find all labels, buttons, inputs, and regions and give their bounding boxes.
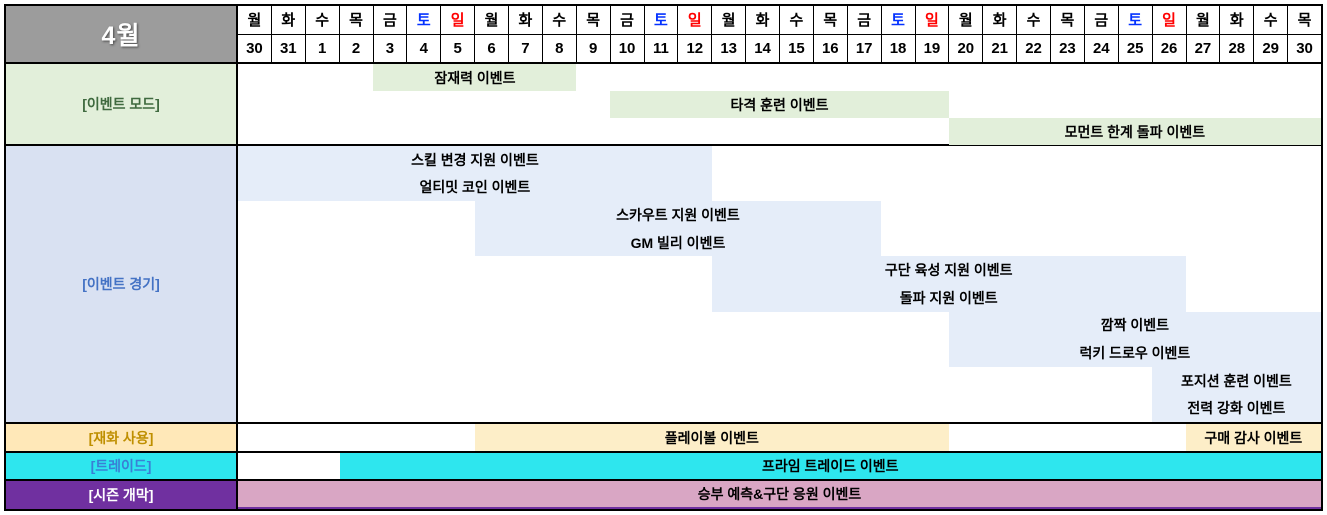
event-bar-label: 깜짝 이벤트: [1101, 315, 1169, 335]
day-of-week-label: 수: [1254, 6, 1287, 35]
day-column-20[interactable]: 월20: [949, 6, 983, 62]
day-number-label: 30: [238, 35, 271, 63]
day-number-label: 13: [712, 35, 745, 63]
day-of-week-label: 화: [746, 6, 779, 35]
day-of-week-label: 토: [1119, 6, 1152, 35]
event-bar-mode-1[interactable]: 타격 훈련 이벤트: [610, 91, 948, 118]
category-event-match[interactable]: [이벤트 경기]: [6, 146, 236, 424]
day-of-week-label: 수: [780, 6, 813, 35]
day-column-24[interactable]: 금24: [1085, 6, 1119, 62]
day-of-week-label: 금: [611, 6, 644, 35]
day-column-1[interactable]: 수1: [306, 6, 340, 62]
event-bar-mode-0[interactable]: 잠재력 이벤트: [373, 64, 576, 91]
day-number-label: 27: [1187, 35, 1220, 63]
day-of-week-label: 토: [407, 6, 440, 35]
day-of-week-label: 목: [1051, 6, 1084, 35]
event-bar-label: 구매 감사 이벤트: [1204, 428, 1302, 448]
day-column-13[interactable]: 월13: [712, 6, 746, 62]
event-bar-label: 전력 강화 이벤트: [1187, 398, 1285, 418]
day-column-10[interactable]: 금10: [611, 6, 645, 62]
day-of-week-label: 목: [814, 6, 847, 35]
day-number-label: 1: [306, 35, 339, 63]
event-bar-label: 얼티밋 코인 이벤트: [419, 177, 530, 197]
day-number-label: 5: [441, 35, 474, 63]
event-bar-currency-0[interactable]: 플레이볼 이벤트: [475, 424, 949, 451]
day-column-23[interactable]: 목23: [1051, 6, 1085, 62]
event-bar-match-5[interactable]: 돌파 지원 이벤트: [712, 284, 1186, 312]
day-number-label: 9: [577, 35, 610, 63]
day-column-17[interactable]: 금17: [848, 6, 882, 62]
day-of-week-label: 목: [340, 6, 373, 35]
event-bar-label: 프라임 트레이드 이벤트: [762, 456, 899, 476]
day-number-label: 18: [882, 35, 915, 63]
day-number-label: 2: [340, 35, 373, 63]
event-bar-match-6[interactable]: 깜짝 이벤트: [949, 312, 1321, 340]
day-number-label: 12: [678, 35, 711, 63]
day-of-week-label: 화: [272, 6, 305, 35]
day-of-week-label: 일: [1153, 6, 1186, 35]
day-of-week-label: 화: [509, 6, 542, 35]
event-bar-label: 승부 예측&구단 응원 이벤트: [698, 484, 861, 504]
day-of-week-label: 목: [577, 6, 610, 35]
day-column-3[interactable]: 금3: [374, 6, 408, 62]
day-number-label: 16: [814, 35, 847, 63]
day-number-label: 11: [645, 35, 678, 63]
day-of-week-label: 일: [441, 6, 474, 35]
event-calendar: 4월 월30화31수1목2금3토4일5월6화7수8목9금10토11일12월13화…: [0, 0, 1327, 515]
day-number-label: 29: [1254, 35, 1287, 63]
event-bar-match-3[interactable]: GM 빌리 이벤트: [475, 229, 881, 257]
day-column-31[interactable]: 화31: [272, 6, 306, 62]
day-number-label: 7: [509, 35, 542, 63]
day-of-week-label: 월: [949, 6, 982, 35]
event-bar-label: 돌파 지원 이벤트: [900, 288, 998, 308]
day-number-label: 21: [983, 35, 1016, 63]
category-event-mode[interactable]: [이벤트 모드]: [6, 64, 236, 146]
day-column-15[interactable]: 수15: [780, 6, 814, 62]
day-column-8[interactable]: 수8: [543, 6, 577, 62]
event-bar-match-9[interactable]: 전력 강화 이벤트: [1152, 394, 1321, 422]
day-column-29[interactable]: 수29: [1254, 6, 1288, 62]
day-column-19[interactable]: 일19: [916, 6, 950, 62]
day-of-week-label: 월: [475, 6, 508, 35]
day-column-21[interactable]: 화21: [983, 6, 1017, 62]
event-bar-label: 모먼트 한계 돌파 이벤트: [1065, 122, 1205, 142]
day-of-week-label: 금: [1085, 6, 1118, 35]
day-of-week-label: 화: [983, 6, 1016, 35]
day-number-label: 23: [1051, 35, 1084, 63]
day-number-label: 31: [272, 35, 305, 63]
day-of-week-label: 토: [645, 6, 678, 35]
calendar-frame: 4월 월30화31수1목2금3토4일5월6화7수8목9금10토11일12월13화…: [4, 4, 1323, 511]
day-of-week-label: 금: [374, 6, 407, 35]
day-of-week-label: 수: [543, 6, 576, 35]
category-currency-use[interactable]: [재화 사용]: [6, 424, 236, 453]
event-bar-match-1[interactable]: 얼티밋 코인 이벤트: [238, 174, 712, 202]
day-column-25[interactable]: 토25: [1119, 6, 1153, 62]
day-of-week-label: 월: [712, 6, 745, 35]
event-bar-match-8[interactable]: 포지션 훈련 이벤트: [1152, 367, 1321, 395]
day-number-label: 25: [1119, 35, 1152, 63]
event-bar-season-0[interactable]: 승부 예측&구단 응원 이벤트: [238, 481, 1321, 507]
event-bar-trade-0[interactable]: 프라임 트레이드 이벤트: [340, 453, 1321, 479]
day-column-16[interactable]: 목16: [814, 6, 848, 62]
day-number-label: 14: [746, 35, 779, 63]
day-column-4[interactable]: 토4: [407, 6, 441, 62]
category-season-open[interactable]: [시즌 개막]: [6, 481, 236, 509]
day-of-week-label: 수: [1017, 6, 1050, 35]
day-column-18[interactable]: 토18: [882, 6, 916, 62]
day-number-label: 26: [1153, 35, 1186, 63]
day-column-14[interactable]: 화14: [746, 6, 780, 62]
day-number-label: 10: [611, 35, 644, 63]
day-number-label: 17: [848, 35, 881, 63]
day-number-label: 15: [780, 35, 813, 63]
day-of-week-label: 목: [1288, 6, 1321, 35]
event-bar-label: 구단 육성 지원 이벤트: [885, 260, 1013, 280]
day-header-grid: 월30화31수1목2금3토4일5월6화7수8목9금10토11일12월13화14수…: [238, 6, 1321, 64]
day-column-6[interactable]: 월6: [475, 6, 509, 62]
day-column-7[interactable]: 화7: [509, 6, 543, 62]
day-of-week-label: 일: [916, 6, 949, 35]
event-bar-label: 럭키 드로우 이벤트: [1079, 343, 1190, 363]
day-number-label: 3: [374, 35, 407, 63]
day-number-label: 20: [949, 35, 982, 63]
day-column-30[interactable]: 목30: [1288, 6, 1321, 62]
day-number-label: 6: [475, 35, 508, 63]
day-of-week-label: 일: [678, 6, 711, 35]
event-bar-match-2[interactable]: 스카우트 지원 이벤트: [475, 201, 881, 229]
event-bar-currency-1[interactable]: 구매 감사 이벤트: [1186, 424, 1321, 451]
day-number-label: 19: [916, 35, 949, 63]
category-trade[interactable]: [트레이드]: [6, 453, 236, 481]
day-of-week-label: 금: [848, 6, 881, 35]
event-bar-label: 스킬 변경 지원 이벤트: [411, 150, 539, 170]
event-bar-label: 타격 훈련 이벤트: [731, 95, 829, 115]
day-column-26[interactable]: 일26: [1153, 6, 1187, 62]
day-column-27[interactable]: 월27: [1187, 6, 1221, 62]
day-column-5[interactable]: 일5: [441, 6, 475, 62]
day-number-label: 8: [543, 35, 576, 63]
day-number-label: 28: [1220, 35, 1253, 63]
category-column: [이벤트 모드] [이벤트 경기] [재화 사용] [트레이드] [시즌 개막]: [6, 64, 238, 511]
day-column-12[interactable]: 일12: [678, 6, 712, 62]
day-column-28[interactable]: 화28: [1220, 6, 1254, 62]
day-column-9[interactable]: 목9: [577, 6, 611, 62]
event-bar-label: 스카우트 지원 이벤트: [616, 205, 740, 225]
event-bar-label: 플레이볼 이벤트: [665, 428, 759, 448]
day-number-label: 24: [1085, 35, 1118, 63]
timeline-body: 잠재력 이벤트타격 훈련 이벤트모먼트 한계 돌파 이벤트스킬 변경 지원 이벤…: [238, 64, 1321, 511]
day-of-week-label: 월: [238, 6, 271, 35]
event-bar-match-4[interactable]: 구단 육성 지원 이벤트: [712, 256, 1186, 284]
day-number-label: 4: [407, 35, 440, 63]
day-column-22[interactable]: 수22: [1017, 6, 1051, 62]
day-of-week-label: 토: [882, 6, 915, 35]
event-bar-match-0[interactable]: 스킬 변경 지원 이벤트: [238, 146, 712, 174]
day-number-label: 30: [1288, 35, 1321, 63]
event-bar-label: GM 빌리 이벤트: [631, 233, 726, 253]
event-bar-label: 잠재력 이벤트: [434, 68, 515, 88]
event-bar-label: 포지션 훈련 이벤트: [1181, 371, 1292, 391]
day-of-week-label: 수: [306, 6, 339, 35]
month-title: 4월: [6, 6, 238, 64]
event-bar-match-7[interactable]: 럭키 드로우 이벤트: [949, 339, 1321, 367]
day-column-2[interactable]: 목2: [340, 6, 374, 62]
day-number-label: 22: [1017, 35, 1050, 63]
day-column-30[interactable]: 월30: [238, 6, 272, 62]
day-column-11[interactable]: 토11: [645, 6, 679, 62]
day-of-week-label: 화: [1220, 6, 1253, 35]
event-bar-mode-2[interactable]: 모먼트 한계 돌파 이벤트: [949, 118, 1321, 145]
day-of-week-label: 월: [1187, 6, 1220, 35]
